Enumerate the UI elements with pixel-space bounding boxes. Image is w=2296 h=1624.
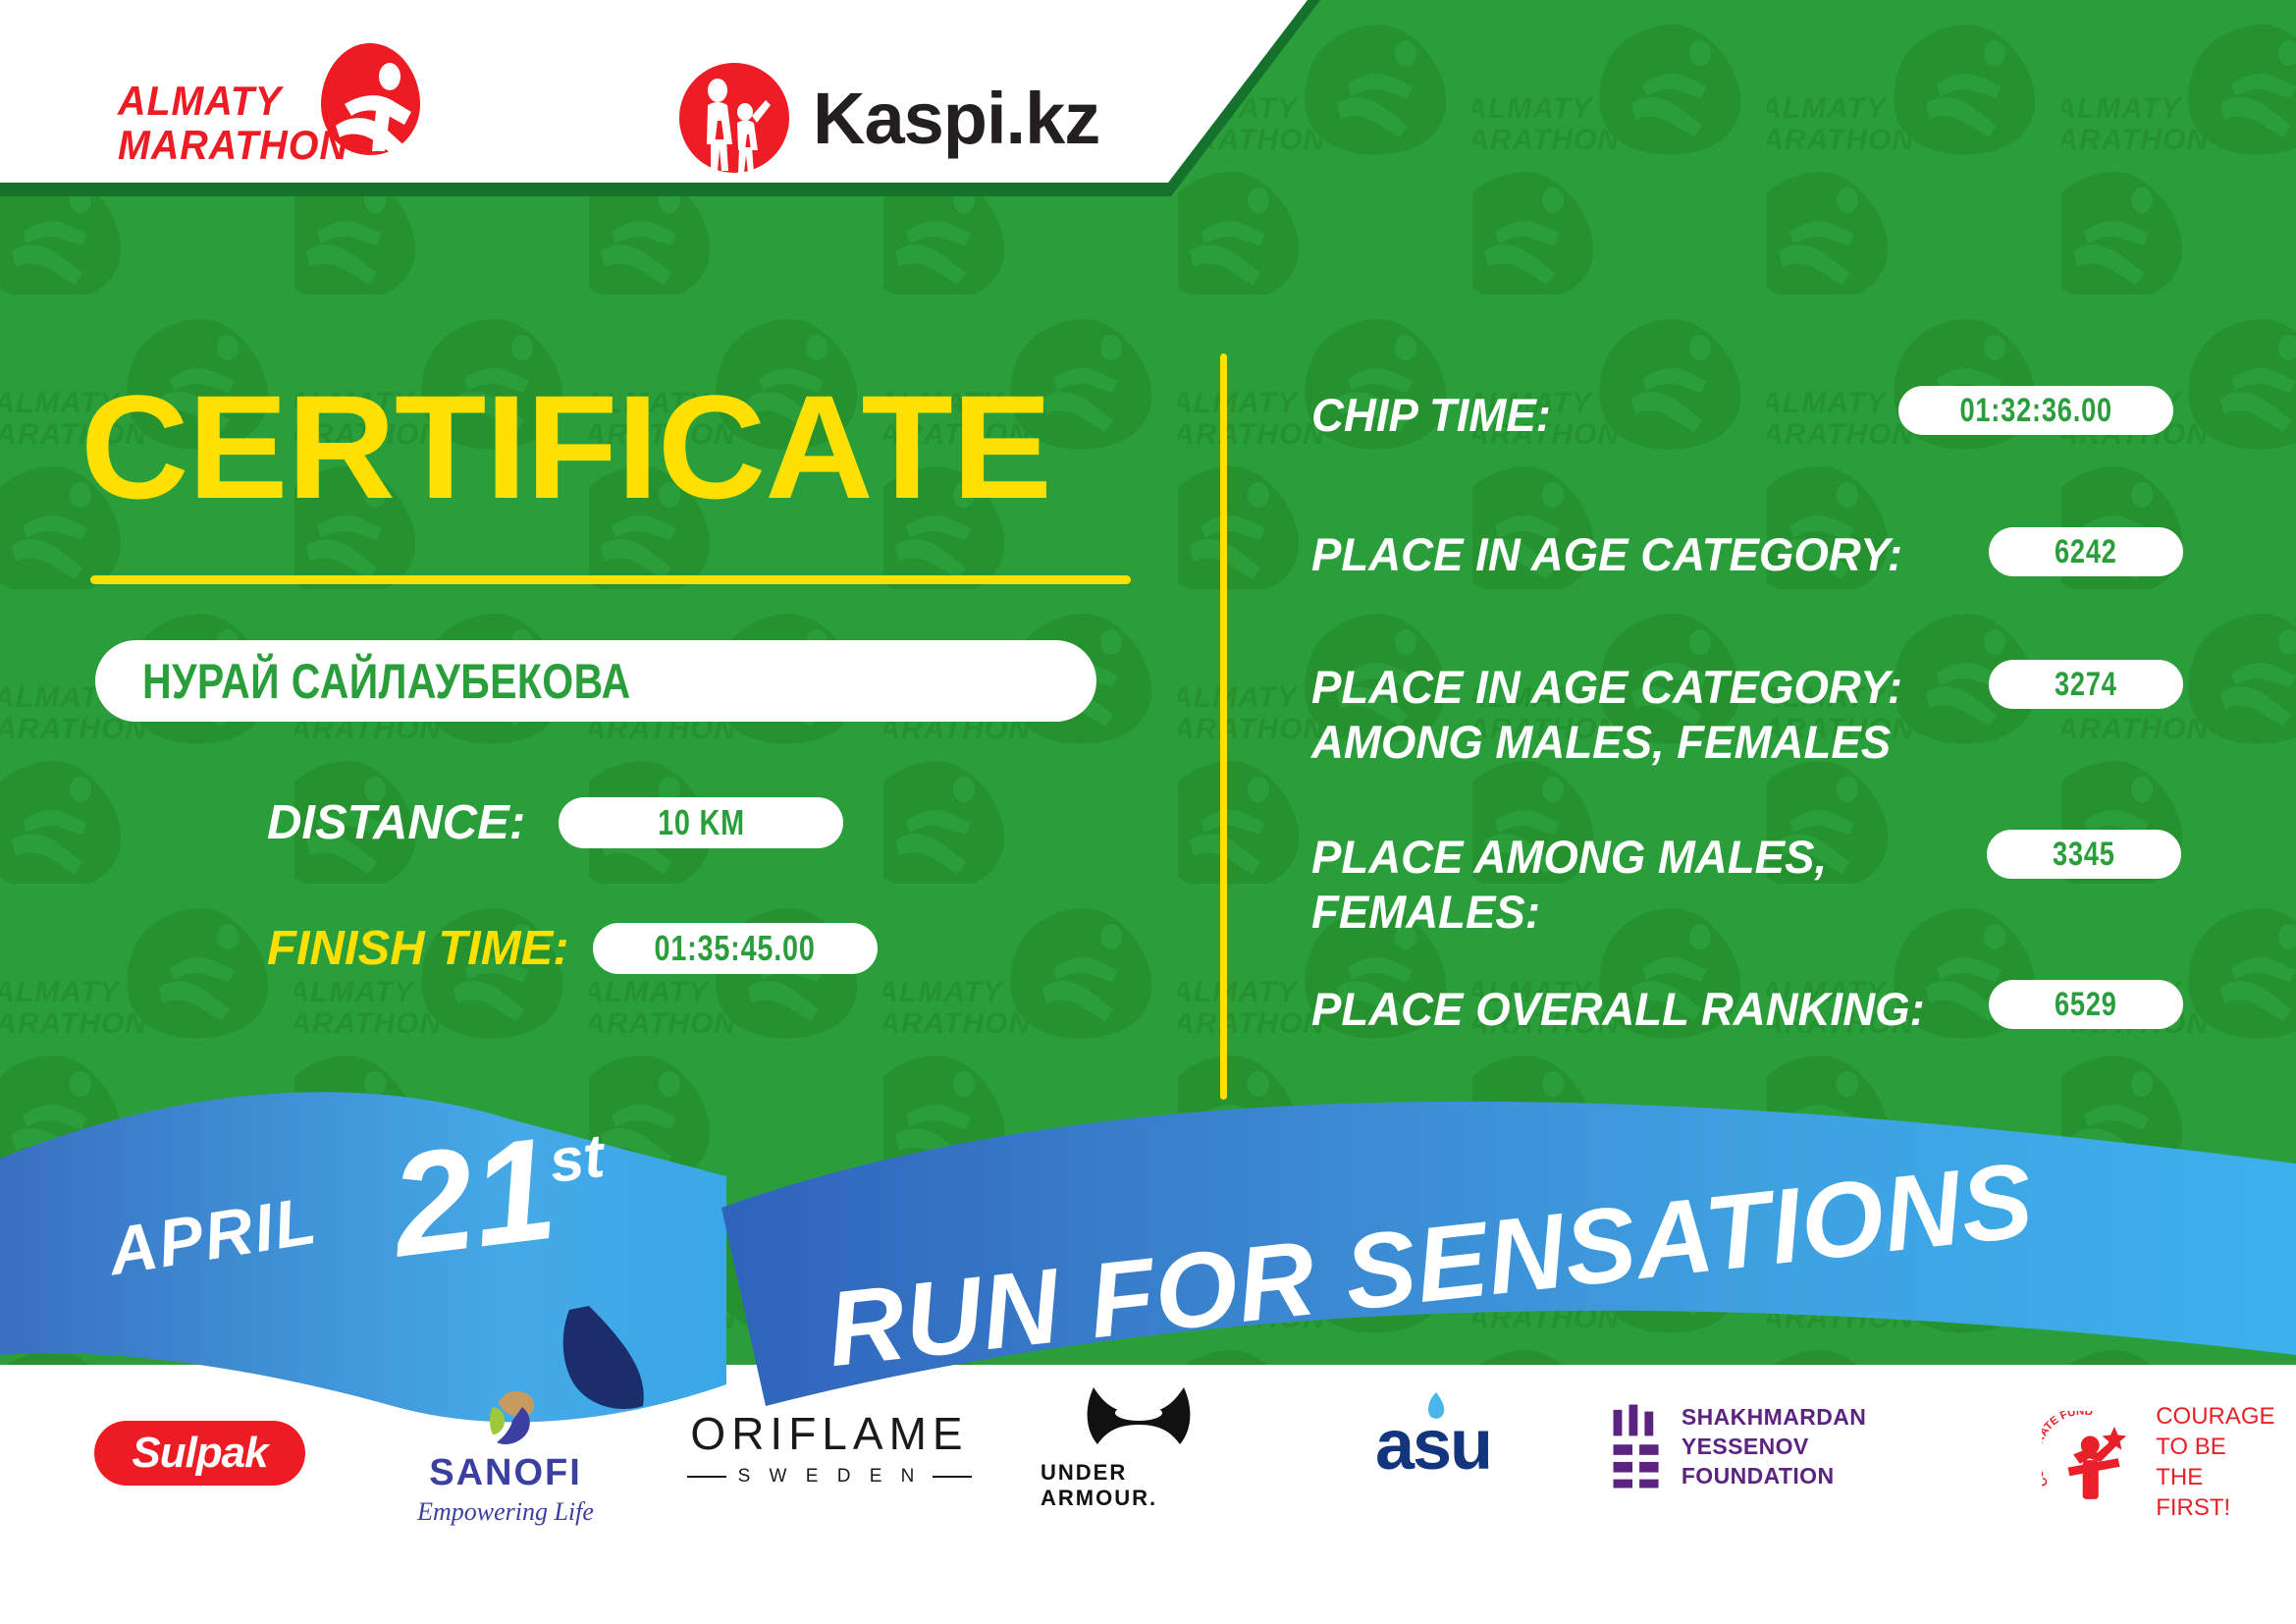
sponsor-sulpak: Sulpak [94,1421,305,1486]
almaty-marathon-logo: ALMATY MARATHON [118,41,422,159]
stat-row-place-age-category-gender: PLACE IN AGE CATEGORY: AMONG MALES, FEMA… [1311,660,1921,770]
yessenov-bars-icon [1610,1399,1664,1493]
chip-time-value-pill: 01:32:36.00 [1898,386,2173,435]
courage-line3: THE FIRST! [2156,1462,2277,1523]
place-overall-value-pill: 6529 [1989,980,2183,1029]
oriflame-tagline: S W E D E N [726,1466,934,1488]
kaspi-people-icon [677,61,791,175]
place-among-gender-value-pill: 3345 [1987,830,2181,879]
place-among-gender-label: PLACE AMONG MALES, FEMALES: [1311,830,1827,940]
stat-row-finish-time: FINISH TIME: 01:35:45.00 [267,921,878,976]
sanofi-wordmark: SANOFI [429,1452,582,1494]
asu-droplet-icon [1423,1391,1447,1421]
page-title: CERTIFICATE [80,373,1172,520]
courage-line1: COURAGE [2156,1401,2277,1432]
finish-time-label: FINISH TIME: [267,921,569,976]
yessenov-wordmark: SHAKHMARDAN YESSENOV FOUNDATION [1682,1402,1963,1490]
distance-value-pill: 10 KM [559,797,843,848]
sponsor-oriflame: ORIFLAME S W E D E N [687,1407,972,1488]
sponsor-shakhmardan-yessenov-foundation: SHAKHMARDAN YESSENOV FOUNDATION [1610,1399,1963,1493]
sponsor-sanofi: SANOFI Empowering Life [393,1389,618,1527]
under-armour-wordmark: UNDER ARMOUR. [1041,1460,1237,1511]
chip-time-label: CHIP TIME: [1311,388,1551,443]
courage-line2: TO BE [2156,1432,2277,1462]
stat-row-place-overall: PLACE OVERALL RANKING: 6529 [1311,982,1944,1037]
header-logos: ALMATY MARATHON Kaspi.k [0,0,1306,183]
sponsor-courage-to-be-the-first: CORPORATE FUND COURAGE TO BE THE FIRST! [2042,1401,2277,1523]
place-age-category-gender-label: PLACE IN AGE CATEGORY: AMONG MALES, FEMA… [1311,660,1902,770]
asu-wordmark: asu [1375,1405,1491,1486]
finish-time-value: 01:35:45.00 [655,928,816,969]
oriflame-sub: S W E D E N [687,1466,972,1488]
stat-row-place-age-category: PLACE IN AGE CATEGORY: 6242 [1311,527,1921,582]
distance-label: DISTANCE: [267,795,525,850]
oriflame-rule-right [933,1476,972,1478]
kaspi-logo: Kaspi.kz [677,59,1099,177]
kaspi-wordmark: Kaspi.kz [813,77,1099,160]
place-among-gender-value: 3345 [2053,836,2115,874]
participant-name: НУРАЙ САЙЛАУБЕКОВА [142,653,631,710]
yessenov-line1: SHAKHMARDAN YESSENOV [1682,1402,1963,1461]
title-divider [90,575,1131,584]
oriflame-wordmark: ORIFLAME [690,1407,968,1460]
sponsor-asu: asu [1360,1405,1507,1486]
place-age-category-label: PLACE IN AGE CATEGORY: [1311,527,1902,582]
sanofi-icon [463,1389,548,1450]
almaty-marathon-runner-icon [319,41,422,157]
place-age-category-gender-value-pill: 3274 [1989,660,2183,709]
place-overall-value: 6529 [2055,986,2117,1024]
vertical-divider [1220,353,1227,1100]
place-age-category-value: 6242 [2055,533,2117,571]
stat-row-distance: DISTANCE: 10 KM [267,795,843,850]
courage-wordmark: COURAGE TO BE THE FIRST! [2156,1401,2277,1523]
place-overall-label: PLACE OVERALL RANKING: [1311,982,1925,1037]
sponsor-under-armour: UNDER ARMOUR. [1041,1383,1237,1511]
stat-row-place-among-gender: PLACE AMONG MALES, FEMALES: 3345 [1311,830,1842,940]
under-armour-icon [1074,1383,1203,1454]
sulpak-wordmark: Sulpak [132,1429,267,1478]
place-age-category-gender-value: 3274 [2055,666,2117,704]
finish-time-value-pill: 01:35:45.00 [593,923,878,974]
certificate-page: ALMATY MARATHON ALMATY MARATHON ALMATY [0,0,2296,1624]
yessenov-line2: FOUNDATION [1682,1461,1963,1490]
courage-runner-icon: CORPORATE FUND [2042,1411,2144,1513]
ribbon-day-suffix: st [546,1121,608,1197]
chip-time-value: 01:32:36.00 [1959,392,2112,430]
distance-value: 10 KM [658,802,745,843]
oriflame-rule-left [687,1476,726,1478]
sponsor-bar: Sulpak SANOFI Empowering Life ORIFLAME S… [0,1429,2296,1586]
place-age-category-value-pill: 6242 [1989,527,2183,576]
stat-row-chip-time: CHIP TIME: 01:32:36.00 [1311,388,1559,443]
sanofi-tagline: Empowering Life [417,1497,594,1527]
ribbon-day: 21 [383,1106,563,1291]
participant-name-field: НУРАЙ САЙЛАУБЕКОВА [95,640,1096,722]
